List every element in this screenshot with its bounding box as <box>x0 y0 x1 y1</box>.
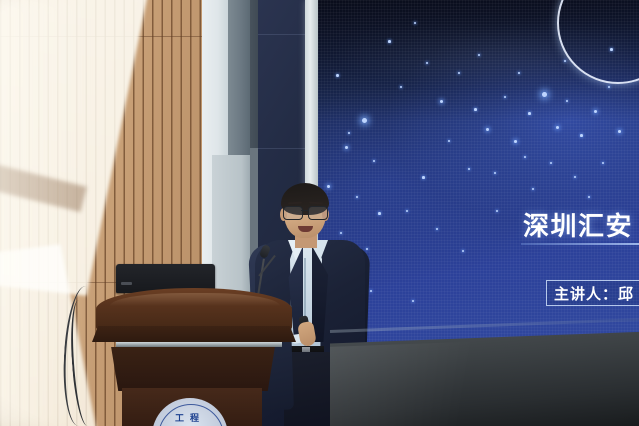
star-particle <box>550 162 552 164</box>
star-particle <box>618 130 621 133</box>
star-particle <box>327 185 330 188</box>
star-particle <box>542 92 547 97</box>
star-particle <box>340 232 342 234</box>
star-particle <box>366 248 368 250</box>
star-particle <box>436 228 438 230</box>
star-particle <box>588 196 590 198</box>
star-particle <box>518 72 520 74</box>
star-particle <box>448 140 450 142</box>
star-particle <box>580 134 583 137</box>
slide-subtitle-box: 主讲人：邱 <box>546 280 639 306</box>
star-particle <box>373 160 375 162</box>
slide-subtitle: 主讲人：邱 <box>554 283 634 304</box>
star-particle <box>494 172 496 174</box>
star-particle <box>528 112 531 115</box>
star-particle <box>348 132 350 134</box>
glasses-bridge <box>301 210 308 211</box>
star-particle <box>602 162 604 164</box>
stage-front-sheen <box>330 334 639 426</box>
presentation-photo-scene: 深圳汇安 主讲人：邱 <box>0 0 639 426</box>
star-particle <box>362 118 367 123</box>
star-particle <box>524 156 526 158</box>
star-particle <box>412 300 414 302</box>
star-particle <box>610 48 613 51</box>
laptop-logo <box>121 282 132 285</box>
star-particle <box>486 128 489 131</box>
star-particle <box>406 210 408 212</box>
podium-body <box>104 347 282 391</box>
star-particle <box>370 290 372 292</box>
star-particle <box>462 250 464 252</box>
star-particle <box>468 168 470 170</box>
slide-title: 深圳汇安 <box>523 206 633 243</box>
glasses-lens-left <box>283 206 303 220</box>
star-particle <box>336 74 339 77</box>
star-particle <box>440 100 443 103</box>
star-particle <box>388 40 391 43</box>
star-particle <box>426 62 428 64</box>
star-particle <box>556 126 559 129</box>
star-particle <box>474 108 477 111</box>
star-particle <box>345 146 348 149</box>
star-particle <box>356 196 358 198</box>
podium-metal-rail <box>116 342 282 347</box>
star-particle <box>496 210 498 212</box>
podium-lip <box>92 326 296 342</box>
star-particle <box>378 212 381 215</box>
star-particle <box>422 176 425 179</box>
emblem-label: 工程 <box>152 411 228 424</box>
star-particle <box>532 188 534 190</box>
slide-title-rule <box>521 243 639 245</box>
glasses-lens-right <box>308 206 328 220</box>
star-particle <box>574 176 576 178</box>
glasses-icon <box>283 206 327 218</box>
star-particle <box>514 140 517 143</box>
